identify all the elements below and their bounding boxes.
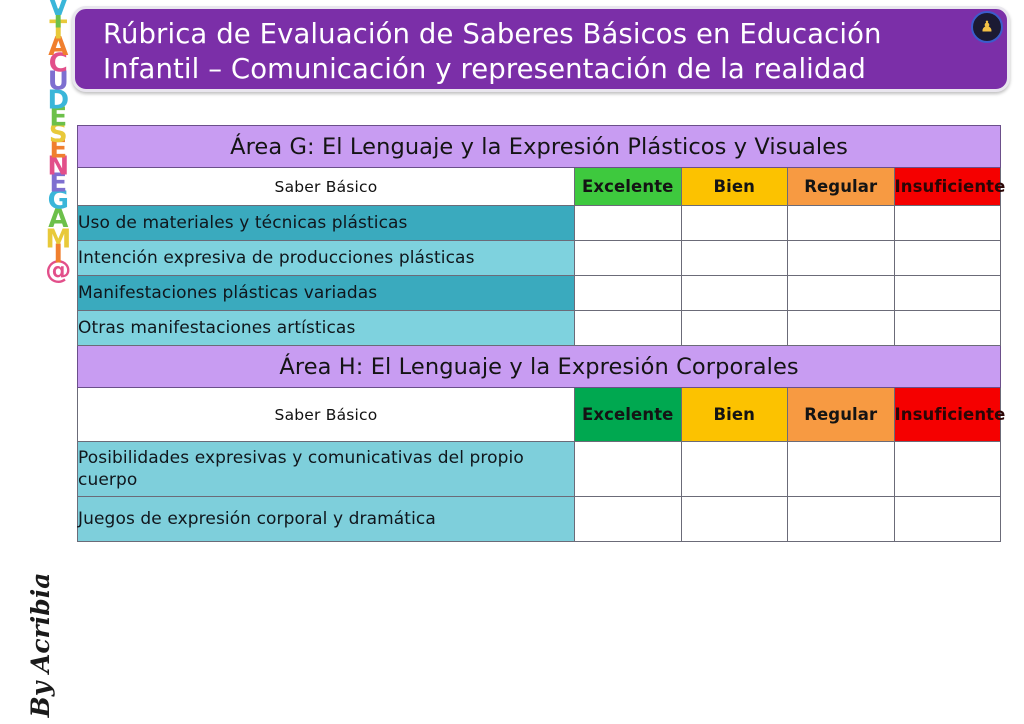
score-cell-regular[interactable] <box>788 311 895 346</box>
watermark-letter: D <box>47 81 68 121</box>
criterion-row: Intención expresiva de producciones plás… <box>78 241 1001 276</box>
score-cell-insuficiente[interactable] <box>894 241 1001 276</box>
score-cell-bien[interactable] <box>681 276 788 311</box>
page-title-line-1: Rúbrica de Evaluación de Saberes Básicos… <box>103 17 987 52</box>
logo-figure-glyph: ♟ <box>980 20 993 35</box>
score-cell-regular[interactable] <box>788 442 895 497</box>
watermark-letter: G <box>48 181 69 221</box>
level-header-row: Saber BásicoExcelenteBienRegularInsufici… <box>78 388 1001 442</box>
watermark-letter: C <box>49 44 68 84</box>
level-header-excelente: Excelente <box>575 168 682 206</box>
criterion-label: Manifestaciones plásticas variadas <box>78 276 575 311</box>
criterion-row: Juegos de expresión corporal y dramática <box>78 497 1001 542</box>
score-cell-bien[interactable] <box>681 442 788 497</box>
criterion-label: Intención expresiva de producciones plás… <box>78 241 575 276</box>
level-header-insuficiente: Insuficiente <box>894 388 1001 442</box>
level-header-excelente: Excelente <box>575 388 682 442</box>
score-cell-bien[interactable] <box>681 497 788 542</box>
score-cell-excelente[interactable] <box>575 276 682 311</box>
score-cell-insuficiente[interactable] <box>894 276 1001 311</box>
area-title-area-h: Área H: El Lenguaje y la Expresión Corpo… <box>78 346 1001 388</box>
criterion-row: Manifestaciones plásticas variadas <box>78 276 1001 311</box>
score-cell-regular[interactable] <box>788 497 895 542</box>
level-header-regular: Regular <box>788 168 895 206</box>
watermark-letter: N <box>47 147 68 187</box>
score-cell-excelente[interactable] <box>575 241 682 276</box>
score-cell-insuficiente[interactable] <box>894 311 1001 346</box>
score-cell-insuficiente[interactable] <box>894 206 1001 241</box>
score-cell-excelente[interactable] <box>575 311 682 346</box>
watermark-letter: E <box>49 164 66 204</box>
criterion-label: Otras manifestaciones artísticas <box>78 311 575 346</box>
watermark-letter: A <box>48 27 68 67</box>
score-cell-insuficiente[interactable] <box>894 442 1001 497</box>
score-cell-insuficiente[interactable] <box>894 497 1001 542</box>
score-cell-regular[interactable] <box>788 206 895 241</box>
level-header-row: Saber BásicoExcelenteBienRegularInsufici… <box>78 168 1001 206</box>
criterion-row: Uso de materiales y técnicas plásticas <box>78 206 1001 241</box>
level-header-insuficiente: Insuficiente <box>894 168 1001 206</box>
score-cell-bien[interactable] <box>681 206 788 241</box>
watermark-letter: S <box>49 114 67 154</box>
watermark-letter: E <box>49 129 66 169</box>
saber-basico-header: Saber Básico <box>78 168 575 206</box>
level-header-regular: Regular <box>788 388 895 442</box>
area-title-area-g: Área G: El Lenguaje y la Expresión Plást… <box>78 126 1001 168</box>
watermark-letter: @ <box>45 250 71 290</box>
score-cell-bien[interactable] <box>681 241 788 276</box>
rubric-table: Área G: El Lenguaje y la Expresión Plást… <box>77 125 1001 542</box>
criterion-row: Posibilidades expresivas y comunicativas… <box>78 442 1001 497</box>
rubric-page: @IMAGENESEDUCATIVAS2.0 By Acribia Rúbric… <box>0 0 1024 724</box>
score-cell-excelente[interactable] <box>575 442 682 497</box>
circular-logo-badge-icon: ♟ <box>971 11 1003 43</box>
rubric-table-body: Área G: El Lenguaje y la Expresión Plást… <box>78 126 1001 542</box>
criterion-label: Posibilidades expresivas y comunicativas… <box>78 442 575 497</box>
saber-basico-header: Saber Básico <box>78 388 575 442</box>
level-header-bien: Bien <box>681 168 788 206</box>
score-cell-excelente[interactable] <box>575 497 682 542</box>
author-signature: By Acribia <box>21 570 61 720</box>
watermark-letter: T <box>49 11 66 51</box>
watermark-letter: V <box>48 0 68 27</box>
title-banner: Rúbrica de Evaluación de Saberes Básicos… <box>72 6 1010 92</box>
page-title-line-2: Infantil – Comunicación y representación… <box>103 52 987 87</box>
area-band-row: Área H: El Lenguaje y la Expresión Corpo… <box>78 346 1001 388</box>
score-cell-bien[interactable] <box>681 311 788 346</box>
criterion-label: Juegos de expresión corporal y dramática <box>78 497 575 542</box>
watermark-letter: U <box>48 62 69 102</box>
score-cell-excelente[interactable] <box>575 206 682 241</box>
area-band-row: Área G: El Lenguaje y la Expresión Plást… <box>78 126 1001 168</box>
watermark-letter: A <box>48 0 68 9</box>
watermark-letter: E <box>49 98 66 138</box>
watermark-letter: I <box>53 235 62 275</box>
watermark-letter: A <box>48 199 68 239</box>
page-title: Rúbrica de Evaluación de Saberes Básicos… <box>103 17 987 87</box>
watermark-letter: I <box>53 0 62 39</box>
score-cell-regular[interactable] <box>788 241 895 276</box>
score-cell-regular[interactable] <box>788 276 895 311</box>
criterion-label: Uso de materiales y técnicas plásticas <box>78 206 575 241</box>
watermark-letter: M <box>45 220 70 260</box>
level-header-bien: Bien <box>681 388 788 442</box>
criterion-row: Otras manifestaciones artísticas <box>78 311 1001 346</box>
